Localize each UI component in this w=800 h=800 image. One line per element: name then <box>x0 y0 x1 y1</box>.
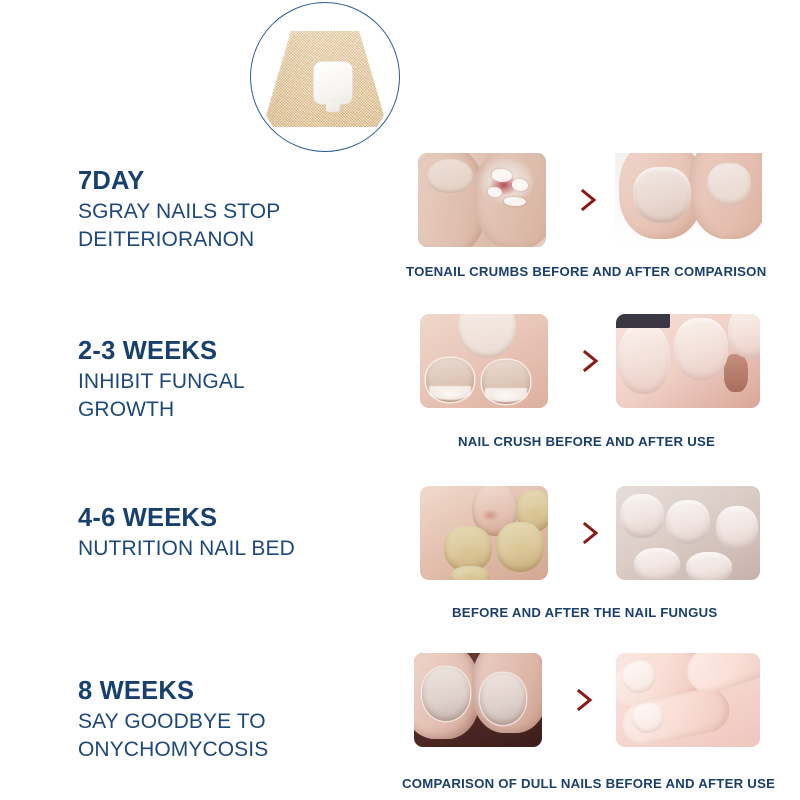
finger-gap <box>724 354 748 392</box>
fingernail-shape <box>674 318 728 380</box>
step-2-subtitle-line-2: GROWTH <box>78 396 398 424</box>
step-3-arrow-icon <box>580 520 602 546</box>
restored-fingernail <box>620 494 664 538</box>
dull-fingernail <box>422 667 470 721</box>
fungal-fingernail <box>496 522 544 572</box>
patch-center-pad <box>313 61 353 105</box>
step-4-after-image <box>616 653 760 747</box>
step-1-after-photo <box>615 153 762 247</box>
step-2-after-image <box>616 314 760 408</box>
fingernail-shape <box>458 314 516 358</box>
toenail-shape <box>707 163 751 205</box>
step-1-text-block: 7DAY SGRAY NAILS STOP DEITERIORANON <box>78 168 398 254</box>
step-2-before-image <box>420 314 548 408</box>
step-1-arrow-icon <box>578 187 600 213</box>
toenail-shape <box>427 159 473 193</box>
step-4-before-photo <box>414 653 542 747</box>
step-4-before-image <box>414 653 542 747</box>
step-1-comparison <box>418 153 762 247</box>
step-1-title: 7DAY <box>78 168 398 196</box>
step-2-title: 2-3 WEEKS <box>78 338 398 366</box>
step-1-subtitle-line-2: DEITERIORANON <box>78 226 398 254</box>
step-3-caption: BEFORE AND AFTER THE NAIL FUNGUS <box>452 605 717 620</box>
nail-crumb <box>488 187 502 197</box>
step-3-title: 4-6 WEEKS <box>78 505 398 533</box>
restored-fingernail <box>666 500 710 544</box>
step-2-caption: NAIL CRUSH BEFORE AND AFTER USE <box>458 434 715 449</box>
step-4-subtitle-line-1: SAY GOODBYE TO <box>78 708 398 736</box>
step-1-before-image <box>418 153 546 247</box>
step-4-caption: COMPARISON OF DULL NAILS BEFORE AND AFTE… <box>402 776 775 791</box>
fungal-fingernail <box>450 566 490 580</box>
step-2-after-photo <box>616 314 760 408</box>
step-3-subtitle-line-1: NUTRITION NAIL BED <box>78 535 398 563</box>
step-2-arrow-icon <box>580 348 602 374</box>
step-1-subtitle-line-1: SGRAY NAILS STOP <box>78 198 398 226</box>
product-badge <box>250 2 400 152</box>
step-3-comparison <box>420 486 760 580</box>
nail-crumb <box>512 179 528 191</box>
step-1-before-photo <box>418 153 546 247</box>
step-4-after-photo <box>616 653 760 747</box>
step-4-comparison <box>414 653 760 747</box>
step-2-subtitle-line-1: INHIBIT FUNGAL <box>78 368 398 396</box>
fingernail-shape <box>618 324 670 394</box>
step-4-text-block: 8 WEEKS SAY GOODBYE TO ONYCHOMYCOSIS <box>78 678 398 764</box>
damaged-fingernail <box>426 358 474 402</box>
step-3-text-block: 4-6 WEEKS NUTRITION NAIL BED <box>78 505 398 563</box>
restored-fingernail <box>634 548 680 580</box>
step-2-comparison <box>420 314 760 408</box>
step-3-before-photo <box>420 486 548 580</box>
step-2-text-block: 2-3 WEEKS INHIBIT FUNGAL GROWTH <box>78 338 398 424</box>
step-2-before-photo <box>420 314 548 408</box>
nail-crumb <box>504 197 526 206</box>
step-4-subtitle-line-2: ONYCHOMYCOSIS <box>78 736 398 764</box>
step-1-caption: TOENAIL CRUMBS BEFORE AND AFTER COMPARIS… <box>406 264 766 279</box>
damaged-fingernail <box>482 360 530 404</box>
fingernail-shape <box>728 314 760 358</box>
restored-fingernail <box>686 552 732 580</box>
nail-treatment-patch-icon <box>266 25 384 129</box>
step-3-before-image <box>420 486 548 580</box>
step-4-arrow-icon <box>574 687 596 713</box>
dull-fingernail <box>480 673 526 725</box>
toenail-shape <box>633 167 691 223</box>
nail-crumb <box>492 169 512 182</box>
step-1-after-image <box>615 153 762 247</box>
step-3-after-image <box>616 486 760 580</box>
step-4-title: 8 WEEKS <box>78 678 398 706</box>
restored-fingernail <box>716 506 758 550</box>
step-3-after-photo <box>616 486 760 580</box>
